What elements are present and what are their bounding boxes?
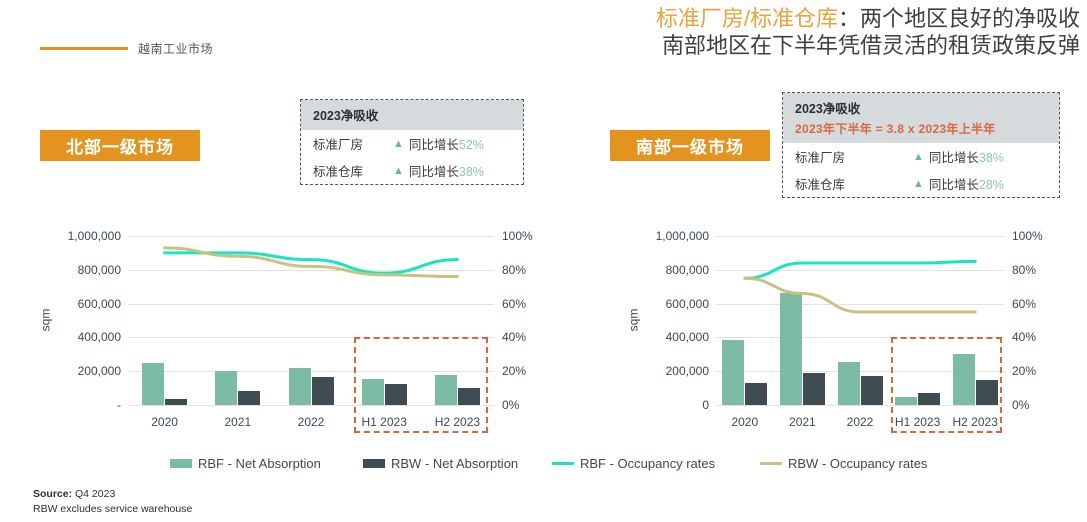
row-value-pct: 38% <box>459 165 484 179</box>
y-axis-tick-label: - <box>117 398 121 412</box>
y2-axis-tick-label: 60% <box>1012 297 1036 311</box>
headline-highlight: 标准厂房/标准仓库 <box>656 6 838 31</box>
chart-south-net-absorption: 1,000,000100%800,00080%600,00060%400,000… <box>628 228 1048 443</box>
source-note: Source: Q4 2023 RBW excludes service war… <box>33 487 192 517</box>
bar-rbw-1 <box>803 373 825 405</box>
highlight-box-2023 <box>354 337 488 433</box>
bar-rbw-2 <box>312 377 334 405</box>
triangle-up-icon: ▲ <box>393 165 404 177</box>
net-absorption-box-north-title: 2023净吸收 <box>313 105 511 124</box>
row-value-text: 同比增长 <box>929 178 979 192</box>
y-axis-tick-label: 200,000 <box>78 364 121 378</box>
net-absorption-box-north: 2023净吸收 标准厂房 ▲ 同比增长52% 标准仓库 ▲ 同比增长38% <box>300 99 524 185</box>
legend-label: RBW - Net Absorption <box>391 456 518 471</box>
y-axis-tick-label: 800,000 <box>78 263 121 277</box>
legend-swatch-line-icon <box>552 462 574 465</box>
bar-rbw-0 <box>165 399 187 405</box>
gridline <box>128 270 494 271</box>
bar-rbf-0 <box>142 363 164 405</box>
bar-rbf-1 <box>215 371 237 405</box>
net-absorption-row: 标准厂房 ▲ 同比增长38% <box>783 143 1059 170</box>
y-axis-tick-label: 1,000,000 <box>68 229 121 243</box>
y2-axis-tick-label: 20% <box>502 364 526 378</box>
source-value: Q4 2023 <box>72 488 115 500</box>
chart-north-net-absorption: 1,000,000100%800,00080%600,00060%400,000… <box>40 228 540 443</box>
headline-line-1: 标准厂房/标准仓库：两个地区良好的净吸收 <box>540 6 1080 33</box>
highlight-box-2023 <box>891 337 1002 433</box>
triangle-up-icon: ▲ <box>913 151 924 163</box>
net-absorption-box-north-header: 2023净吸收 <box>301 100 523 130</box>
page-headline: 标准厂房/标准仓库：两个地区良好的净吸收 南部地区在下半年凭借灵活的租赁政策反弹 <box>540 6 1080 60</box>
y-axis-tick-label: 400,000 <box>666 330 709 344</box>
row-value-text: 同比增长 <box>409 165 459 179</box>
legend-swatch-bar-icon <box>363 459 385 468</box>
legend-label: RBF - Net Absorption <box>198 456 321 471</box>
y-axis-title: sqm <box>626 308 640 331</box>
row-value-text: 同比增长 <box>409 138 459 152</box>
bar-rbw-1 <box>238 391 260 405</box>
headline-line-1-rest: ：两个地区良好的净吸收 <box>838 6 1080 31</box>
gridline <box>128 236 494 237</box>
bar-rbw-0 <box>745 383 767 405</box>
bar-rbw-2 <box>861 376 883 405</box>
y-axis-tick-label: 400,000 <box>78 330 121 344</box>
y2-axis-tick-label: 20% <box>1012 364 1036 378</box>
headline-line-2: 南部地区在下半年凭借灵活的租赁政策反弹 <box>540 33 1080 60</box>
legend-item-rbf-net-absorption: RBF - Net Absorption <box>170 456 321 471</box>
net-absorption-row: 标准仓库 ▲ 同比增长28% <box>783 170 1059 197</box>
legend-label: RBW - Occupancy rates <box>788 456 927 471</box>
x-axis-tick-label: 2021 <box>198 415 278 429</box>
legend-item-rbw-occupancy-rates: RBW - Occupancy rates <box>760 456 927 471</box>
y2-axis-tick-label: 60% <box>502 297 526 311</box>
row-label: 标准仓库 <box>313 161 393 180</box>
gridline <box>716 236 1004 237</box>
gridline <box>716 304 1004 305</box>
net-absorption-box-south-header: 2023净吸收 2023年下半年 = 3.8 x 2023年上半年 <box>783 93 1059 143</box>
row-label: 标准厂房 <box>795 147 913 166</box>
legend-item-rbf-occupancy-rates: RBF - Occupancy rates <box>552 456 715 471</box>
row-value-text: 同比增长 <box>929 151 979 165</box>
y-axis-tick-label: 0 <box>702 398 709 412</box>
y-axis-tick-label: 600,000 <box>78 297 121 311</box>
y-axis-title: sqm <box>38 308 52 331</box>
bar-rbf-0 <box>722 340 744 405</box>
source-line: Source: Q4 2023 <box>33 487 192 502</box>
legend-swatch-bar-icon <box>170 459 192 468</box>
gridline <box>716 270 1004 271</box>
row-value: 同比增长38% <box>409 161 484 180</box>
y2-axis-tick-label: 40% <box>502 330 526 344</box>
brand-rule-icon <box>40 47 128 50</box>
net-absorption-box-south-title: 2023净吸收 <box>795 98 1047 117</box>
legend-swatch-line-icon <box>760 462 782 465</box>
y2-axis-tick-label: 100% <box>502 229 533 243</box>
row-value-pct: 52% <box>459 138 484 152</box>
net-absorption-row: 标准仓库 ▲ 同比增长38% <box>301 157 523 184</box>
region-badge-north: 北部一级市场 <box>40 130 200 161</box>
y2-axis-tick-label: 0% <box>1012 398 1029 412</box>
triangle-up-icon: ▲ <box>913 178 924 190</box>
source-label: Source: <box>33 488 72 500</box>
y-axis-tick-label: 1,000,000 <box>656 229 709 243</box>
row-label: 标准厂房 <box>313 134 393 153</box>
net-absorption-box-south-subtitle: 2023年下半年 = 3.8 x 2023年上半年 <box>795 120 1047 137</box>
bar-rbf-1 <box>780 293 802 405</box>
y-axis-tick-label: 200,000 <box>666 364 709 378</box>
brand-label: 越南工业市场 <box>138 40 213 57</box>
y-axis-tick-label: 600,000 <box>666 297 709 311</box>
row-label: 标准仓库 <box>795 174 913 193</box>
y2-axis-tick-label: 100% <box>1012 229 1043 243</box>
bar-rbf-2 <box>838 362 860 405</box>
y2-axis-tick-label: 80% <box>502 263 526 277</box>
row-value: 同比增长28% <box>929 174 1004 193</box>
row-value-pct: 28% <box>979 178 1004 192</box>
legend-label: RBF - Occupancy rates <box>580 456 715 471</box>
y-axis-tick-label: 800,000 <box>666 263 709 277</box>
brand-legend: 越南工业市场 <box>40 40 213 57</box>
x-axis-tick-label: 2022 <box>271 415 351 429</box>
y2-axis-tick-label: 0% <box>502 398 519 412</box>
bar-rbf-2 <box>289 368 311 405</box>
source-note-line: RBW excludes service warehouse <box>33 502 192 517</box>
gridline <box>128 304 494 305</box>
region-badge-south: 南部一级市场 <box>610 130 770 161</box>
triangle-up-icon: ▲ <box>393 138 404 150</box>
row-value: 同比增长52% <box>409 134 484 153</box>
legend-item-rbw-net-absorption: RBW - Net Absorption <box>363 456 518 471</box>
y2-axis-tick-label: 80% <box>1012 263 1036 277</box>
x-axis-tick-label: 2020 <box>125 415 205 429</box>
net-absorption-box-south: 2023净吸收 2023年下半年 = 3.8 x 2023年上半年 标准厂房 ▲… <box>782 92 1060 198</box>
y2-axis-tick-label: 40% <box>1012 330 1036 344</box>
row-value: 同比增长38% <box>929 147 1004 166</box>
net-absorption-row: 标准厂房 ▲ 同比增长52% <box>301 130 523 157</box>
row-value-pct: 38% <box>979 151 1004 165</box>
